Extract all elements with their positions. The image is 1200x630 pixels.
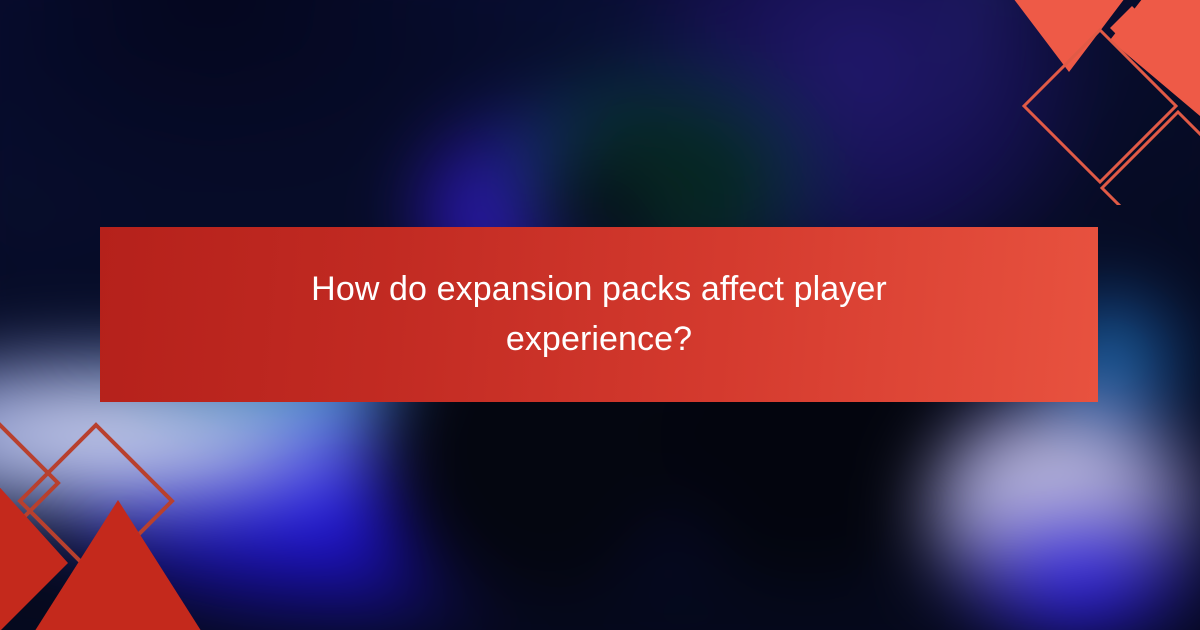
background-light-bar — [965, 0, 991, 160]
headline-banner: How do expansion packs affect player exp… — [100, 227, 1098, 402]
article-card: How do expansion packs affect player exp… — [0, 0, 1200, 630]
page-title: How do expansion packs affect player exp… — [249, 265, 949, 365]
